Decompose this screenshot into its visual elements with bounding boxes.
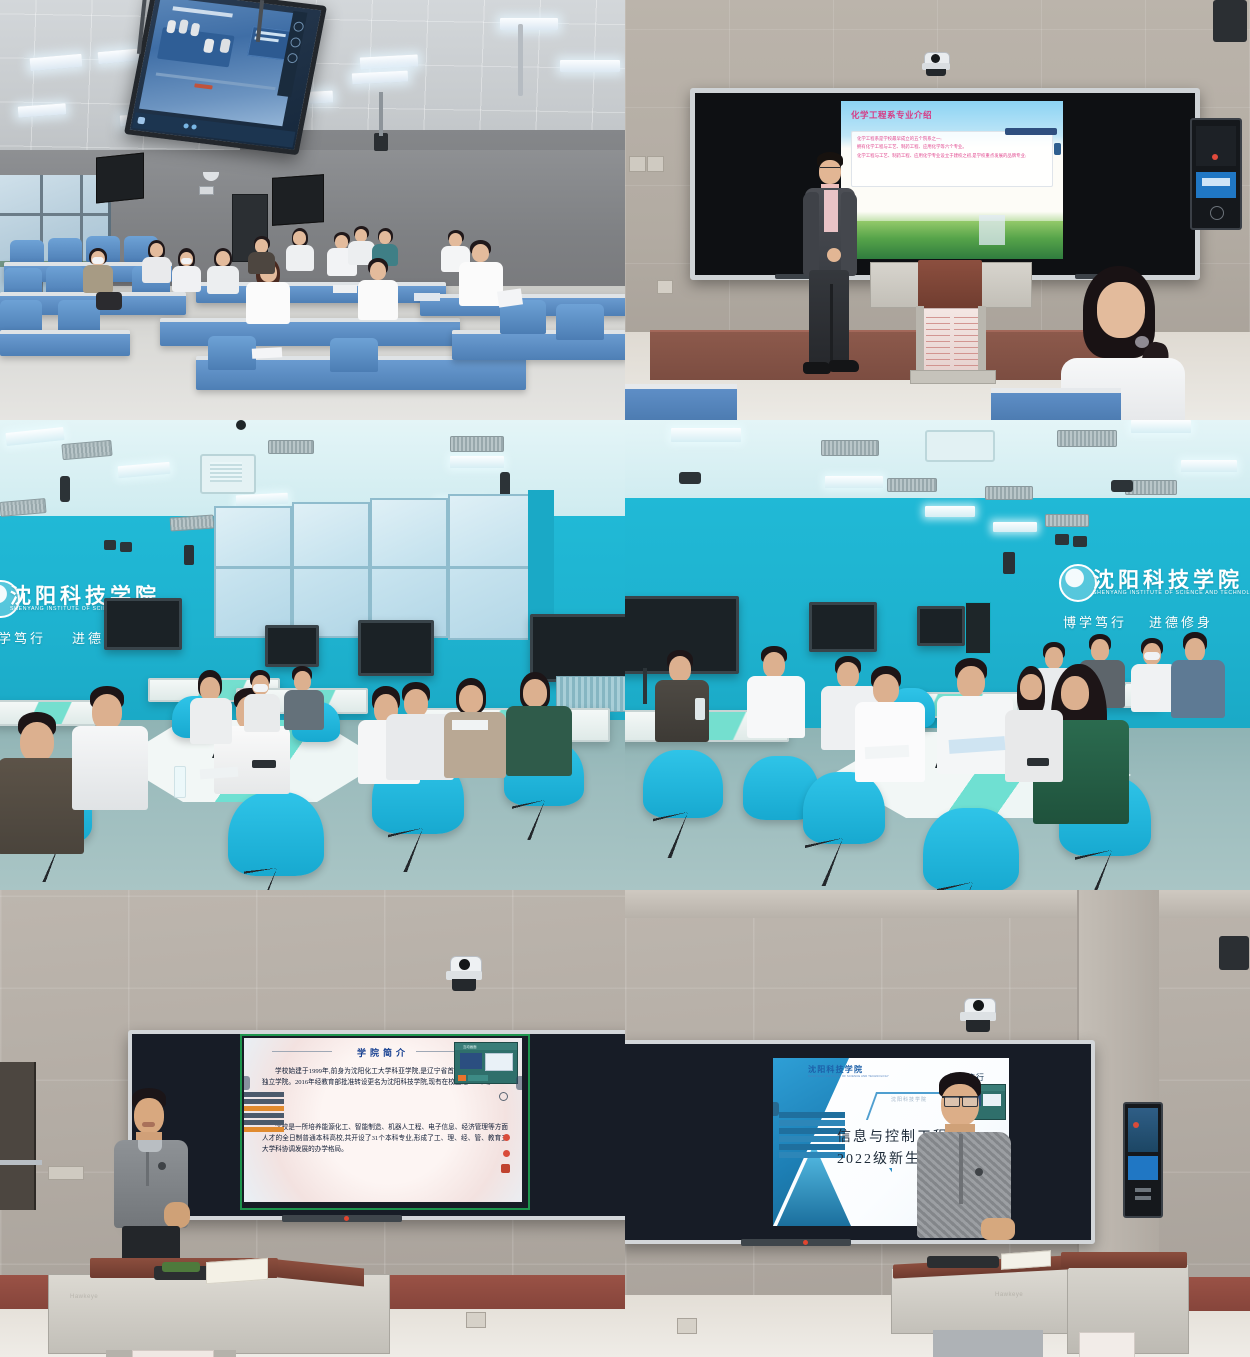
display-stand [643,668,647,704]
handrail [0,1160,42,1165]
motto-left: 博学笃行 [0,628,46,647]
podium-poster [132,1350,214,1357]
wall-speaker [184,545,194,565]
phone-on-table [252,760,276,768]
document-on-desk [414,293,440,301]
board-control-strip [741,1239,851,1246]
video-conference-feed [139,0,304,126]
notebook-on-table [865,745,910,759]
board-control-strip [282,1215,402,1222]
chair-base [388,828,458,872]
ac-diffuser-inner [210,462,242,482]
presentation-slide: 化学工程系专业介绍 化学工程系是学校最早成立的五个院系之一; 拥有化学工程与工艺… [841,101,1063,259]
panel-chemical-engineering-presentation: 化学工程系专业介绍 化学工程系是学校最早成立的五个院系之一; 拥有化学工程与工艺… [625,0,1250,420]
board-power-led [344,1216,349,1221]
interactive-whiteboard[interactable]: 化学工程系专业介绍 化学工程系是学校最早成立的五个院系之一; 拥有化学工程与工艺… [690,88,1200,280]
lectern: Hawkeye [891,1248,1187,1357]
lectern [870,262,1030,380]
slide-logo-en: SHENYANG INSTITUTE OF SCIENCE AND TECHNO… [808,1075,889,1078]
photo-collage: 化学工程系专业介绍 化学工程系是学校最早成立的五个院系之一; 拥有化学工程与工艺… [0,0,1250,1357]
speaker-right [272,174,324,226]
prev-page-button[interactable] [773,1102,779,1116]
motto-right: 进德修身 [1149,612,1213,631]
ceiling-monitor [124,0,327,155]
wall-switches[interactable] [48,1166,84,1180]
chair-front-b [330,338,378,372]
slide-nav-stack[interactable] [779,1112,845,1160]
water-bottle [695,698,705,720]
ptz-camera [444,956,484,998]
wall-display [104,598,182,650]
speaker-person [797,152,867,382]
water-bottle [174,766,186,798]
lectern: Hawkeye [48,1258,388,1357]
podium-brand: Hawkeye [995,1292,1023,1298]
ptz-camera [958,998,998,1038]
speaker-left [96,152,144,203]
chair-base [805,838,881,886]
podium-brand: Hawkeye [70,1294,98,1300]
projector [60,476,70,502]
doorway[interactable] [0,1062,36,1210]
chair-base [937,882,1009,890]
interactive-whiteboard[interactable]: 学院简介 学校始建于1999年,前身为沈阳化工大学科亚学院,是辽宁省首批获教育部… [128,1030,625,1220]
chair [803,772,885,844]
slide-bullet-box: 化学工程系是学校最早成立的五个院系之一; 拥有化学工程与工艺、制药工程、应用化学… [851,131,1053,187]
outlet [647,156,664,172]
interactive-whiteboard[interactable]: 沈阳科技学院 SHENYANG INSTITUTE OF SCIENCE AND… [625,1040,1095,1244]
ceiling-camera [1073,536,1087,547]
panel-lecture-hall-audience [0,0,625,420]
chair-right-b [556,304,604,340]
bag-on-seat [96,292,122,310]
chair-base [512,800,578,840]
camera-pole [379,92,383,136]
chair [643,750,723,818]
panel-college-introduction-lecture: 学院简介 学校始建于1999年,前身为沈阳化工大学科亚学院,是辽宁省首批获教育部… [0,890,625,1357]
board-power-led [803,1240,808,1245]
wall-speaker [1003,552,1015,574]
slide-bullet: 化学工程系是学校最早成立的五个院系之一; [857,136,1047,141]
board-green-frame [240,1034,530,1210]
desk-front-left [625,384,737,420]
outlet [629,156,646,172]
chair-base [1075,850,1149,890]
mobile-display [265,625,319,667]
chair-base [653,812,723,858]
ceiling-speaker [1219,936,1249,970]
mobile-display [809,602,877,652]
wall-display-panel[interactable] [1190,118,1242,230]
ceiling-camera [104,540,116,550]
outlet [466,1312,486,1328]
slide-toolbar[interactable] [1005,128,1057,135]
ceiling-camera [120,542,132,552]
slide-bullet: 拥有化学工程与工艺、制药工程、应用化学等六个专业。 [857,144,1047,149]
slide-photo-building [979,215,1005,245]
ceiling-camera [1055,534,1069,545]
slide-bullet: 化学工程与工艺、制药工程、应用化学专业设立于建校之初,是学校重点发展的品牌专业; [857,153,1047,158]
outlet [677,1318,697,1334]
document-on-desk [252,347,282,359]
school-logo-mark [1059,564,1097,602]
desk-row-front [160,318,460,346]
chair [228,792,324,876]
chair-base [244,868,310,890]
speaker-person [915,1072,1015,1266]
sprinkler-pole [518,24,523,96]
podium-poster [1079,1332,1135,1357]
projector [679,472,701,484]
outlet [657,280,673,294]
ptz-camera [920,52,954,76]
panel-smart-classroom-right: 沈阳科技学院 SHENYANG INSTITUTE OF SCIENCE AND… [625,420,1250,890]
document-on-desk [333,285,357,293]
mobile-display [530,614,625,682]
slide-logo-cn: 沈阳科技学院 [808,1064,863,1075]
panel-information-control-orientation: 沈阳科技学院 SHENYANG INSTITUTE OF SCIENCE AND… [625,890,1250,1357]
motto-left: 博学笃行 [1063,612,1127,631]
chair [923,808,1019,890]
window [214,506,292,638]
ac-diffuser [925,430,995,462]
chair-front-a [208,336,256,370]
ceiling-speaker [1213,0,1247,42]
document-on-table [452,720,488,730]
window [292,502,370,638]
notebook-on-lectern [206,1258,268,1284]
window-mullion [214,566,528,569]
mobile-display [917,606,965,646]
desk-front-right [991,388,1121,420]
ceiling-speaker [236,420,246,430]
slide-title: 化学工程系专业介绍 [851,109,932,121]
lecturer-person [112,1088,192,1280]
school-name-en: SHENYANG INSTITUTE OF SCIENCE AND TECHNO… [1093,590,1250,596]
slide-photo-trees [841,221,1063,259]
access-control-display[interactable] [1123,1102,1163,1218]
phone-on-table [1027,758,1049,766]
slide-side-button[interactable] [1054,143,1061,155]
door[interactable] [965,602,991,654]
exit-sign [199,186,214,195]
mobile-display [358,620,434,676]
projector [1111,480,1133,492]
panel-smart-classroom-left: 沈阳科技学院 SHENYANG INSTITUTE OF SCIENCE AND… [0,420,625,890]
